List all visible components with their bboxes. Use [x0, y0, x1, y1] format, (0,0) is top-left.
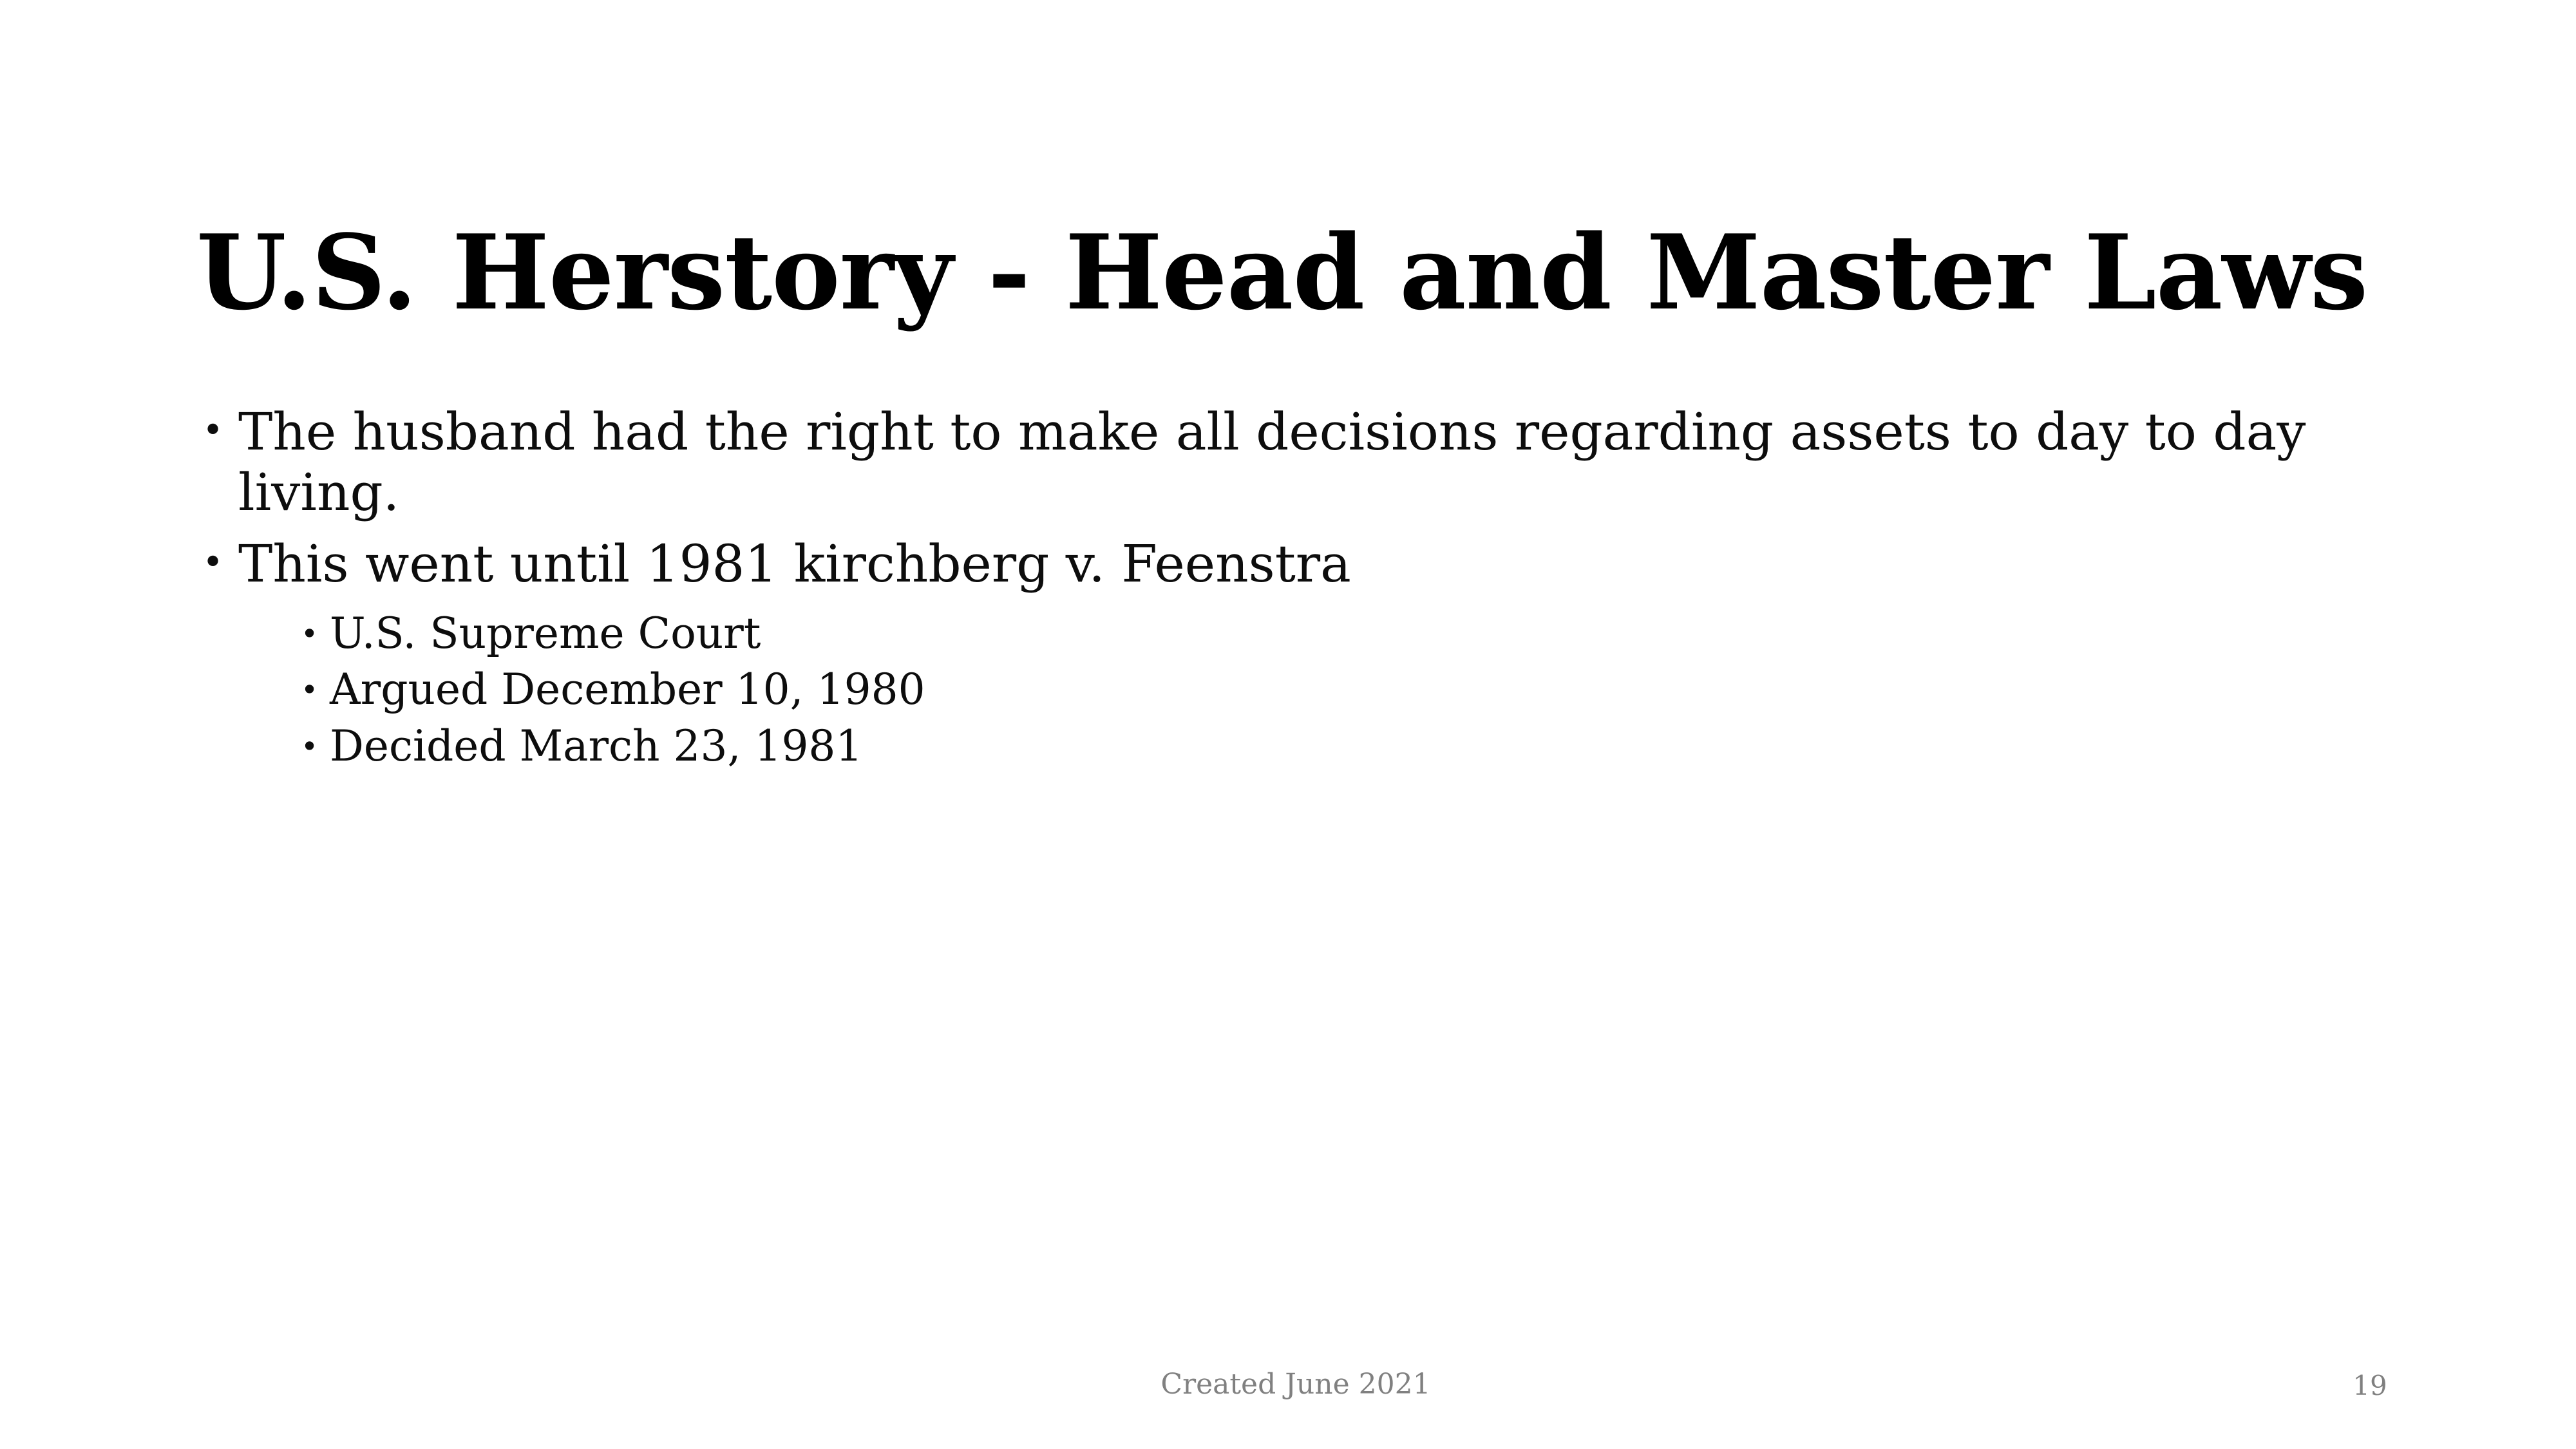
bullet-point-icon: •	[193, 534, 238, 592]
bullet-text: This went until 1981 kirchberg v. Feenst…	[238, 534, 2318, 594]
bullet-point-icon: •	[193, 402, 238, 460]
bullet-text: The husband had the right to make all de…	[238, 402, 2318, 522]
bullet-point-icon: •	[193, 719, 330, 775]
bullet-text: Argued December 10, 1980	[330, 662, 2396, 717]
bullet-item-level1: • The husband had the right to make all …	[193, 402, 2396, 522]
page-number: 19	[2325, 1372, 2415, 1399]
slide-body: • The husband had the right to make all …	[193, 402, 2396, 775]
page-title: U.S. Herstory - Head and Master Laws	[196, 218, 2386, 328]
bullet-item-level2: • U.S. Supreme Court	[193, 606, 2396, 662]
bullet-item-level2: • Argued December 10, 1980	[193, 662, 2396, 718]
slide-canvas: U.S. Herstory - Head and Master Laws • T…	[0, 0, 2576, 1449]
bullet-point-icon: •	[193, 662, 330, 718]
sub-bullet-group: • U.S. Supreme Court • Argued December 1…	[193, 606, 2396, 775]
bullet-text: Decided March 23, 1981	[330, 719, 2396, 774]
bullet-item-level2: • Decided March 23, 1981	[193, 719, 2396, 775]
bullet-point-icon: •	[193, 606, 330, 662]
bullet-item-level1: • This went until 1981 kirchberg v. Feen…	[193, 534, 2396, 594]
footer-note: Created June 2021	[8, 1370, 2576, 1399]
bullet-text: U.S. Supreme Court	[330, 606, 2396, 661]
